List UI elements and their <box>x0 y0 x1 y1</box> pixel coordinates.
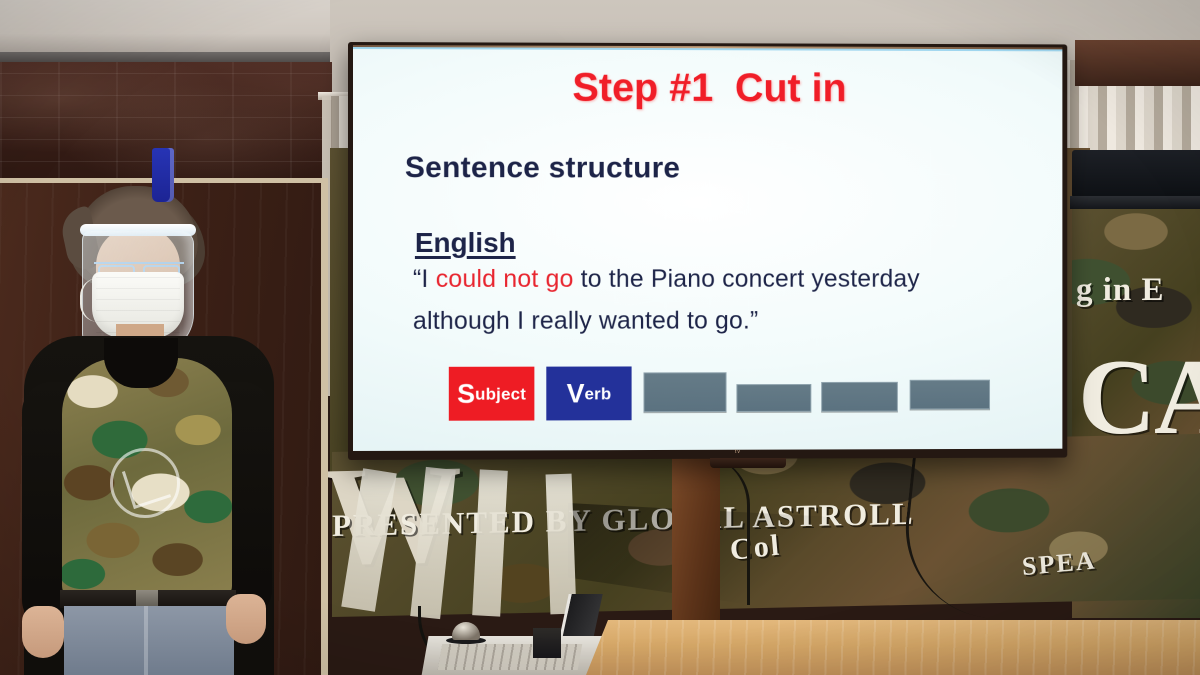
shelf-bar <box>1070 196 1200 209</box>
presenter-right-hand <box>226 594 266 644</box>
presenter <box>18 186 280 675</box>
block-subject-initial: S <box>457 380 475 407</box>
presenter-left-hand <box>22 606 64 658</box>
slide-subheading-english: English <box>415 227 516 259</box>
block-blank-2 <box>736 384 811 412</box>
block-blank-3 <box>821 382 898 412</box>
banner-right-text-top: g in E <box>1076 272 1165 309</box>
vest-logo-icon <box>110 448 180 518</box>
slide-title: Step #1Cut in <box>353 65 1062 112</box>
slide-title-step: Step #1 <box>572 66 713 110</box>
wooden-table <box>586 620 1200 675</box>
jeans <box>64 606 234 675</box>
blue-clip <box>152 148 174 202</box>
block-verb-rest: erb <box>584 385 611 402</box>
shelf-equipment <box>1072 150 1200 198</box>
desk-device <box>533 628 561 658</box>
sentence-structure-blocks: Subject Verb <box>449 366 1002 423</box>
block-blank-4 <box>910 380 990 410</box>
slide-quote-line-2: although I really wanted to go.” <box>413 307 758 336</box>
slide-quote-line-1: “I could not go to the Piano concert yes… <box>413 265 920 294</box>
block-verb-initial: V <box>567 380 585 407</box>
block-verb: Verb <box>546 366 631 420</box>
quote-text-before: “I <box>413 265 436 293</box>
tv-mount-foot <box>710 458 786 468</box>
block-subject: Subject <box>449 367 535 421</box>
block-subject-rest: ubject <box>475 385 526 402</box>
quote-highlight: could not go <box>436 265 574 293</box>
banner-right-text-large: CA <box>1078 348 1200 447</box>
tv-brand-logo: tv <box>735 449 741 455</box>
slide-title-action: Cut in <box>735 66 847 110</box>
quote-text-after: to the Piano concert yesterday <box>574 265 920 293</box>
slide-heading: Sentence structure <box>405 151 680 185</box>
wood-trim-right <box>1075 40 1200 86</box>
ceiling <box>0 0 330 56</box>
banner-tertiary-text: SPEA <box>1021 545 1097 582</box>
photo-scene: g in E CA W PRESENTED BY GLOBAL ASTROLL … <box>0 0 1200 675</box>
block-blank-1 <box>643 372 726 412</box>
slide-canvas: Step #1Cut in Sentence structure English… <box>353 47 1062 451</box>
presentation-screen[interactable]: Step #1Cut in Sentence structure English… <box>348 42 1067 460</box>
